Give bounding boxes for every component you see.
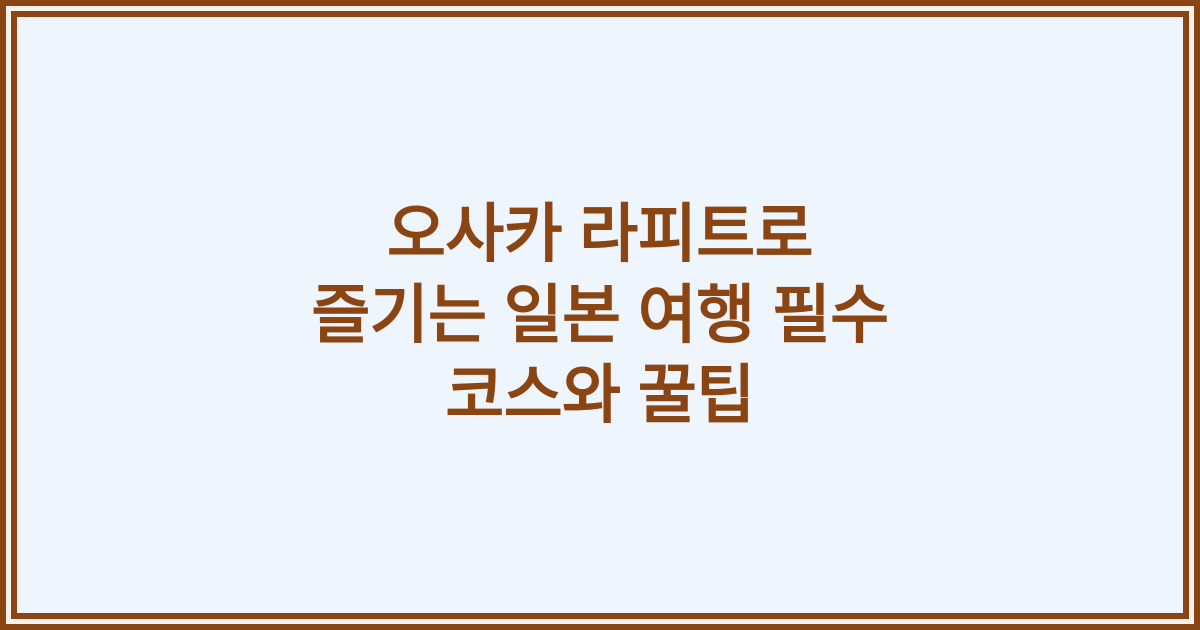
page-title: 오사카 라피트로 즐기는 일본 여행 필수 코스와 꿀팁 (70, 194, 1130, 436)
poster-card: 오사카 라피트로 즐기는 일본 여행 필수 코스와 꿀팁 (0, 0, 1200, 630)
title-block: 오사카 라피트로 즐기는 일본 여행 필수 코스와 꿀팁 (6, 194, 1194, 436)
